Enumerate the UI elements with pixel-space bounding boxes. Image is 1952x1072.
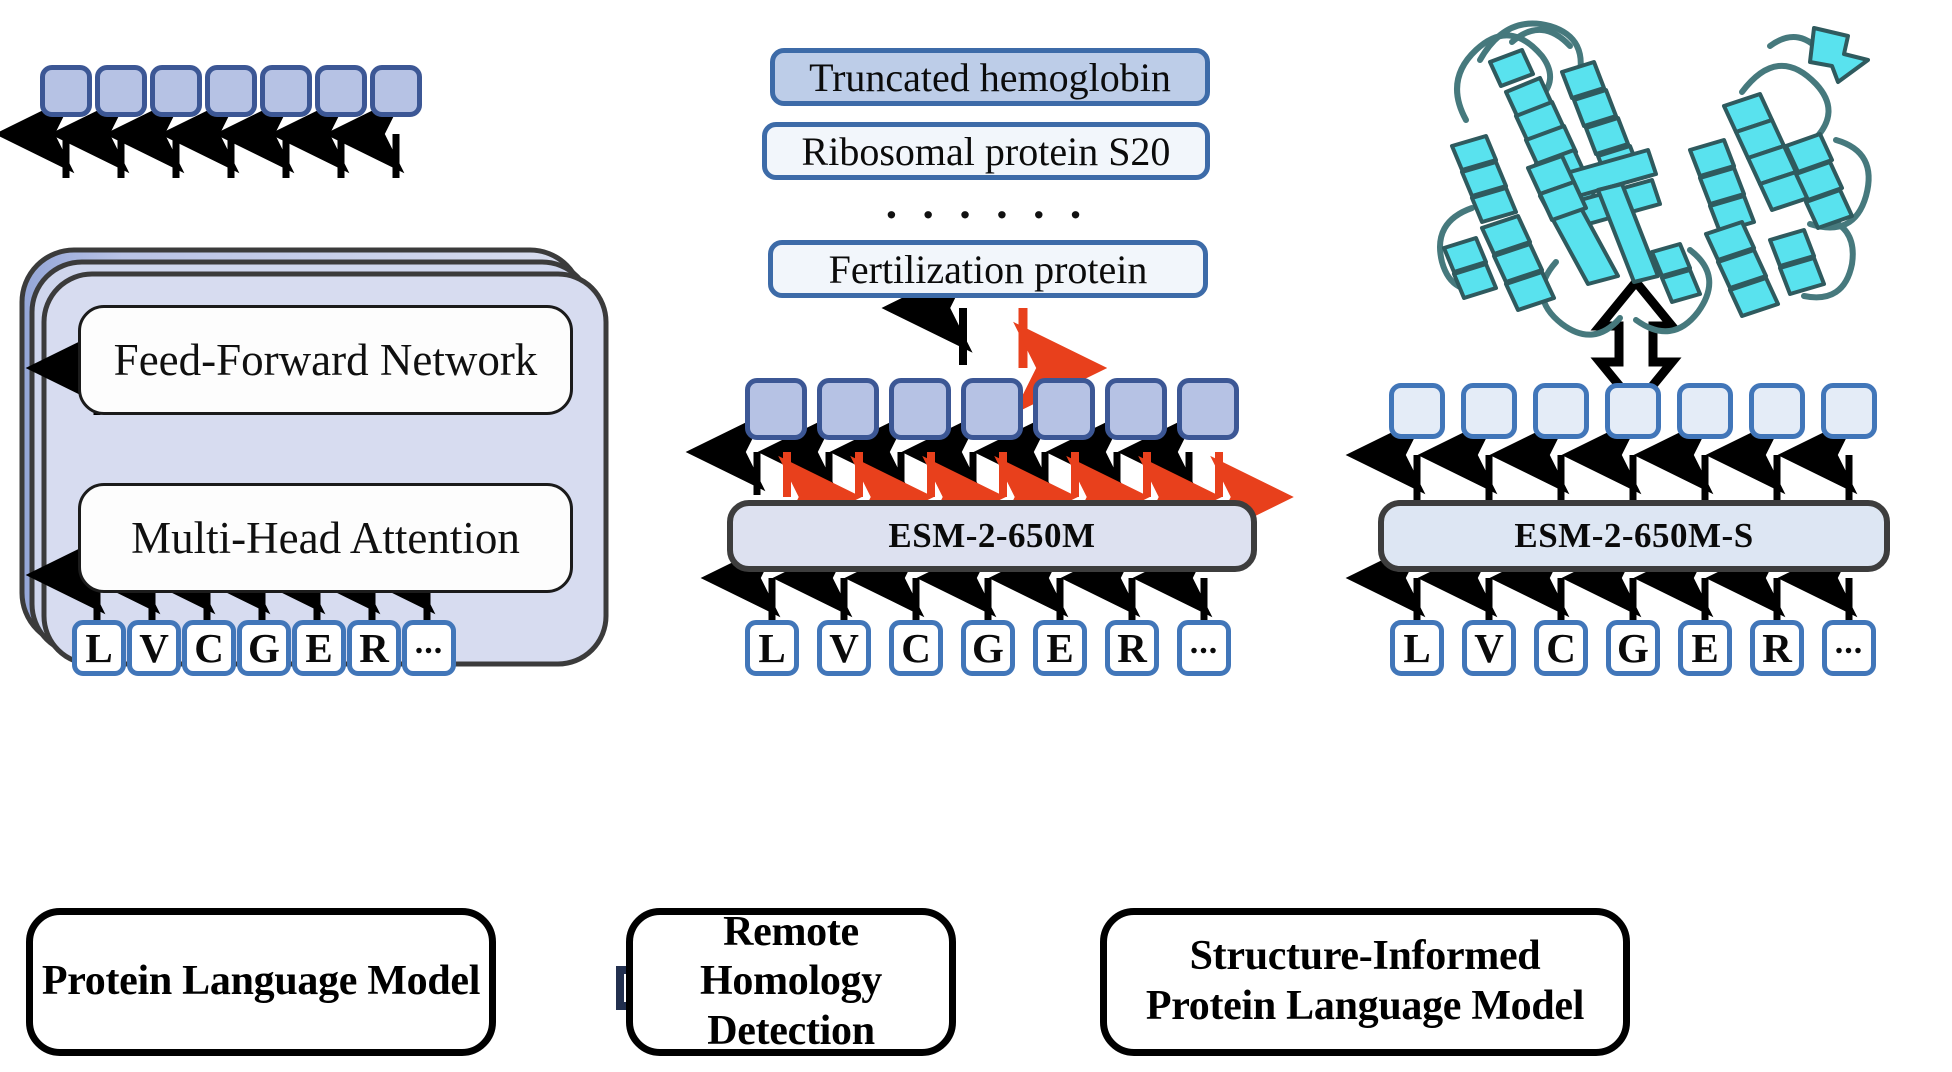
residue-label: V <box>139 628 169 669</box>
middle-input-arrows <box>772 578 1204 622</box>
stage-banner-line-2: Detection <box>707 1008 875 1054</box>
middle-token <box>889 378 951 440</box>
prediction-pill[interactable]: Ribosomal protein S20 <box>762 122 1210 180</box>
left-output-arrows <box>66 134 396 178</box>
residue-label: ... <box>415 626 444 660</box>
middle-residue-box: G <box>961 620 1015 676</box>
prediction-pill-selected[interactable]: Truncated hemoglobin <box>770 48 1210 106</box>
residue-label: G <box>972 628 1004 669</box>
middle-residue-box: L <box>745 620 799 676</box>
protein-structure-cartoon <box>1440 24 1869 335</box>
left-output-token <box>370 65 422 117</box>
residue-label: ... <box>1190 626 1219 660</box>
middle-residue-box: R <box>1105 620 1159 676</box>
right-input-arrows <box>1417 578 1849 622</box>
left-residue-box: E <box>292 620 346 676</box>
residue-label: V <box>829 628 859 669</box>
middle-head-arrows <box>963 308 1023 368</box>
left-residue-box: V <box>127 620 181 676</box>
right-residue-box: R <box>1750 620 1804 676</box>
right-token-arrows <box>1417 455 1849 500</box>
right-token <box>1605 383 1661 439</box>
figure-canvas: Feed-Forward Network Multi-Head Attentio… <box>0 0 1952 1072</box>
middle-token <box>745 378 807 440</box>
middle-residue-box: V <box>817 620 871 676</box>
stage-banner-line-1: Remote Homology <box>700 909 882 1005</box>
left-residue-box: R <box>347 620 401 676</box>
left-residue-box: C <box>182 620 236 676</box>
stage-banner-label: Protein Language Model <box>42 957 480 1007</box>
residue-label: ... <box>1835 626 1864 660</box>
left-output-token <box>40 65 92 117</box>
right-residue-box: G <box>1606 620 1660 676</box>
left-residue-box: G <box>237 620 291 676</box>
right-token <box>1749 383 1805 439</box>
stage-banner-structure-informed-plm[interactable]: Structure-Informed Protein Language Mode… <box>1100 908 1630 1056</box>
right-residue-box: V <box>1462 620 1516 676</box>
middle-token <box>1105 378 1167 440</box>
feed-forward-network-label: Feed-Forward Network <box>114 334 538 386</box>
prediction-label: Ribosomal protein S20 <box>802 128 1171 175</box>
residue-label: E <box>1046 628 1073 669</box>
left-output-token <box>260 65 312 117</box>
residue-label: R <box>1117 628 1147 669</box>
middle-residue-box: C <box>889 620 943 676</box>
right-residue-box: L <box>1390 620 1444 676</box>
esm2-650m-s-label: ESM-2-650M-S <box>1514 516 1753 556</box>
esm2-650m-s-model-bar[interactable]: ESM-2-650M-S <box>1378 500 1890 572</box>
residue-label: C <box>194 628 224 669</box>
residue-label: L <box>1403 628 1430 669</box>
middle-residue-box-ellipsis: ... <box>1177 620 1231 676</box>
left-output-token <box>150 65 202 117</box>
left-residue-box-ellipsis: ... <box>402 620 456 676</box>
residue-label: E <box>305 628 332 669</box>
stage-banner-line-2: Protein Language Model <box>1146 983 1584 1029</box>
residue-label: V <box>1474 628 1504 669</box>
left-output-token <box>95 65 147 117</box>
left-output-token <box>205 65 257 117</box>
stage-banner-line-1: Structure-Informed <box>1190 933 1541 979</box>
residue-label: C <box>901 628 931 669</box>
residue-label: L <box>758 628 785 669</box>
right-token <box>1461 383 1517 439</box>
esm2-650m-label: ESM-2-650M <box>888 516 1095 556</box>
prediction-label: Fertilization protein <box>829 246 1148 293</box>
right-residue-box-ellipsis: ... <box>1822 620 1876 676</box>
middle-token <box>1177 378 1239 440</box>
right-token <box>1533 383 1589 439</box>
feed-forward-network-block: Feed-Forward Network <box>78 305 573 415</box>
stage-banner-protein-language-model[interactable]: Protein Language Model <box>26 908 496 1056</box>
left-output-token <box>315 65 367 117</box>
residue-label: C <box>1546 628 1576 669</box>
residue-label: L <box>85 628 112 669</box>
middle-token <box>961 378 1023 440</box>
residue-label: G <box>1617 628 1649 669</box>
middle-residue-box: E <box>1033 620 1087 676</box>
right-residue-box: E <box>1678 620 1732 676</box>
esm2-650m-model-bar[interactable]: ESM-2-650M <box>727 500 1257 572</box>
multi-head-attention-label: Multi-Head Attention <box>131 512 520 564</box>
stage-banner-label: Structure-Informed Protein Language Mode… <box>1146 932 1584 1031</box>
prediction-list-ellipsis: · · · · · · <box>755 192 1217 238</box>
right-token <box>1677 383 1733 439</box>
stage-banner-label: Remote Homology Detection <box>633 908 949 1057</box>
residue-label: G <box>248 628 280 669</box>
stage-banner-remote-homology-detection[interactable]: Remote Homology Detection <box>626 908 956 1056</box>
prediction-label: Truncated hemoglobin <box>809 54 1171 101</box>
right-residue-box: C <box>1534 620 1588 676</box>
middle-token <box>1033 378 1095 440</box>
middle-token <box>817 378 879 440</box>
right-token <box>1389 383 1445 439</box>
residue-label: R <box>359 628 389 669</box>
residue-label: E <box>1691 628 1718 669</box>
prediction-pill[interactable]: Fertilization protein <box>768 240 1208 298</box>
right-token <box>1821 383 1877 439</box>
middle-token-arrows <box>757 452 1219 497</box>
multi-head-attention-block: Multi-Head Attention <box>78 483 573 593</box>
left-residue-box: L <box>72 620 126 676</box>
residue-label: R <box>1762 628 1792 669</box>
